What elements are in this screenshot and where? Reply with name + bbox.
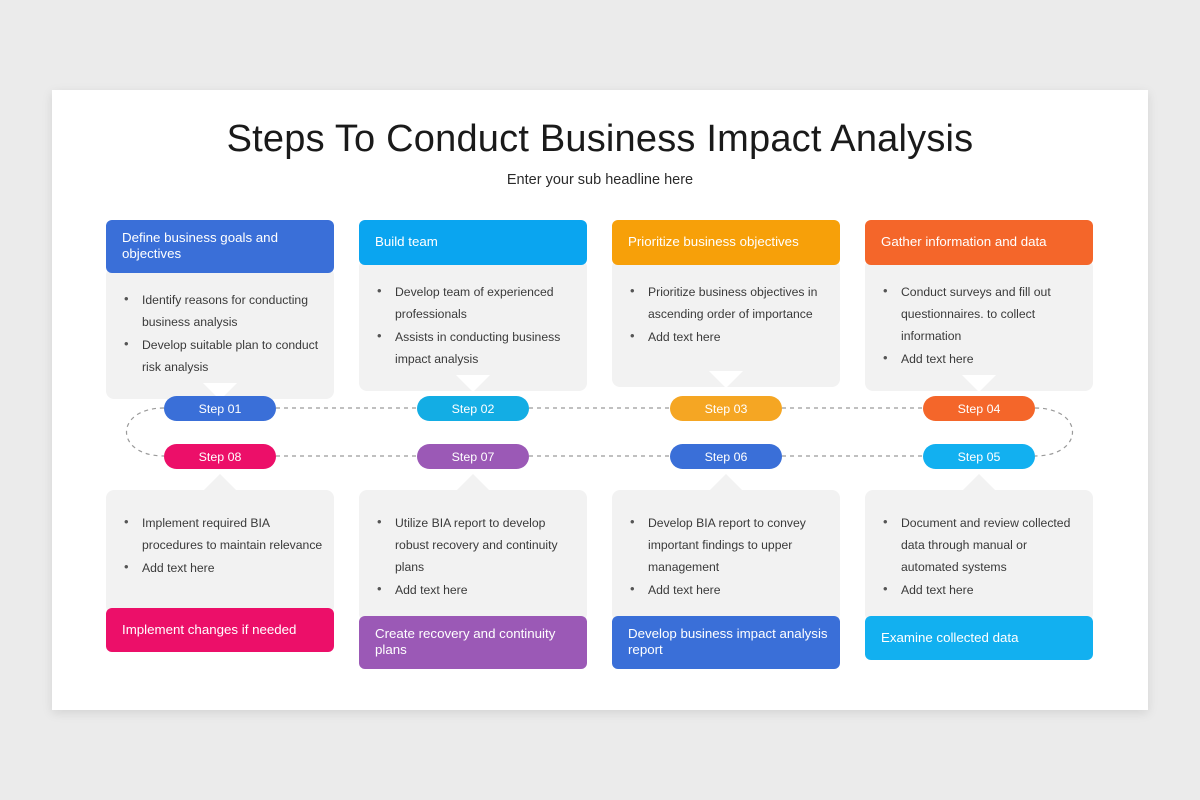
list-item: Add text here [875, 348, 1083, 370]
top-bullet-list-2: Develop team of experienced professional… [369, 281, 577, 370]
bottom-footer-3-label: Develop business impact analysis report [628, 626, 828, 658]
list-item: Develop team of experienced professional… [369, 281, 577, 325]
top-column-1: Define business goals and objectives Ide… [106, 220, 334, 399]
step-pill-04-label: Step 04 [958, 402, 1001, 416]
slide-canvas: Steps To Conduct Business Impact Analysi… [52, 90, 1148, 710]
bottom-footer-3[interactable]: Develop business impact analysis report [612, 616, 840, 669]
list-item: Utilize BIA report to develop robust rec… [369, 512, 577, 578]
bottom-footer-2-label: Create recovery and continuity plans [375, 626, 575, 658]
step-pill-06[interactable]: Step 06 [670, 444, 782, 469]
step-pill-07-label: Step 07 [452, 450, 495, 464]
bottom-bullet-list-1: Implement required BIA procedures to mai… [116, 512, 324, 579]
step-pill-03-label: Step 03 [705, 402, 748, 416]
top-card-2: Develop team of experienced professional… [359, 259, 587, 391]
bottom-footer-2[interactable]: Create recovery and continuity plans [359, 616, 587, 669]
list-item: Identify reasons for conducting business… [116, 289, 324, 333]
step-pill-03[interactable]: Step 03 [670, 396, 782, 421]
chevron-down-icon [709, 371, 743, 388]
chevron-up-icon [962, 474, 996, 491]
step-pill-05[interactable]: Step 05 [923, 444, 1035, 469]
bottom-column-2: Utilize BIA report to develop robust rec… [359, 490, 587, 669]
step-pill-02[interactable]: Step 02 [417, 396, 529, 421]
list-item: Add text here [622, 579, 830, 601]
step-pill-08[interactable]: Step 08 [164, 444, 276, 469]
bottom-footer-1-label: Implement changes if needed [122, 622, 296, 638]
top-bullet-list-4: Conduct surveys and fill out questionnai… [875, 281, 1083, 370]
list-item: Assists in conducting business impact an… [369, 326, 577, 370]
bottom-bullet-list-3: Develop BIA report to convey important f… [622, 512, 830, 601]
step-pill-08-label: Step 08 [199, 450, 242, 464]
bottom-bullet-list-2: Utilize BIA report to develop robust rec… [369, 512, 577, 601]
list-item: Implement required BIA procedures to mai… [116, 512, 324, 556]
page-title: Steps To Conduct Business Impact Analysi… [52, 118, 1148, 161]
step-pill-07[interactable]: Step 07 [417, 444, 529, 469]
top-header-3[interactable]: Prioritize business objectives [612, 220, 840, 265]
top-card-1: Identify reasons for conducting business… [106, 267, 334, 399]
top-column-3: Prioritize business objectives Prioritiz… [612, 220, 840, 387]
step-pill-05-label: Step 05 [958, 450, 1001, 464]
top-bullet-list-1: Identify reasons for conducting business… [116, 289, 324, 378]
top-column-4: Gather information and data Conduct surv… [865, 220, 1093, 391]
step-pill-02-label: Step 02 [452, 402, 495, 416]
page-subtitle: Enter your sub headline here [52, 172, 1148, 188]
list-item: Add text here [875, 579, 1083, 601]
bottom-column-1: Implement required BIA procedures to mai… [106, 490, 334, 652]
top-header-4[interactable]: Gather information and data [865, 220, 1093, 265]
bottom-column-4: Document and review collected data throu… [865, 490, 1093, 660]
step-pill-06-label: Step 06 [705, 450, 748, 464]
chevron-down-icon [962, 375, 996, 392]
top-card-4: Conduct surveys and fill out questionnai… [865, 259, 1093, 391]
step-pill-04[interactable]: Step 04 [923, 396, 1035, 421]
bottom-footer-4-label: Examine collected data [881, 630, 1018, 646]
bottom-footer-4[interactable]: Examine collected data [865, 616, 1093, 660]
bottom-card-3: Develop BIA report to convey important f… [612, 490, 840, 622]
top-header-2-label: Build team [375, 234, 438, 250]
chevron-up-icon [203, 474, 237, 491]
chevron-down-icon [456, 375, 490, 392]
list-item: Develop BIA report to convey important f… [622, 512, 830, 578]
list-item: Prioritize business objectives in ascend… [622, 281, 830, 325]
top-column-2: Build team Develop team of experienced p… [359, 220, 587, 391]
bottom-card-2: Utilize BIA report to develop robust rec… [359, 490, 587, 622]
bottom-bullet-list-4: Document and review collected data throu… [875, 512, 1083, 601]
top-bullet-list-3: Prioritize business objectives in ascend… [622, 281, 830, 348]
bottom-footer-1[interactable]: Implement changes if needed [106, 608, 334, 652]
list-item: Add text here [622, 326, 830, 348]
top-header-1[interactable]: Define business goals and objectives [106, 220, 334, 273]
list-item: Develop suitable plan to conduct risk an… [116, 334, 324, 378]
top-card-3: Prioritize business objectives in ascend… [612, 259, 840, 387]
list-item: Add text here [116, 557, 324, 579]
list-item: Document and review collected data throu… [875, 512, 1083, 578]
bottom-column-3: Develop BIA report to convey important f… [612, 490, 840, 669]
chevron-up-icon [456, 474, 490, 491]
bottom-card-1: Implement required BIA procedures to mai… [106, 490, 334, 614]
top-header-1-label: Define business goals and objectives [122, 230, 322, 262]
chevron-up-icon [709, 474, 743, 491]
top-header-3-label: Prioritize business objectives [628, 234, 799, 250]
step-pill-01[interactable]: Step 01 [164, 396, 276, 421]
top-header-4-label: Gather information and data [881, 234, 1047, 250]
step-pill-01-label: Step 01 [199, 402, 242, 416]
list-item: Conduct surveys and fill out questionnai… [875, 281, 1083, 347]
top-header-2[interactable]: Build team [359, 220, 587, 265]
bottom-card-4: Document and review collected data throu… [865, 490, 1093, 622]
list-item: Add text here [369, 579, 577, 601]
